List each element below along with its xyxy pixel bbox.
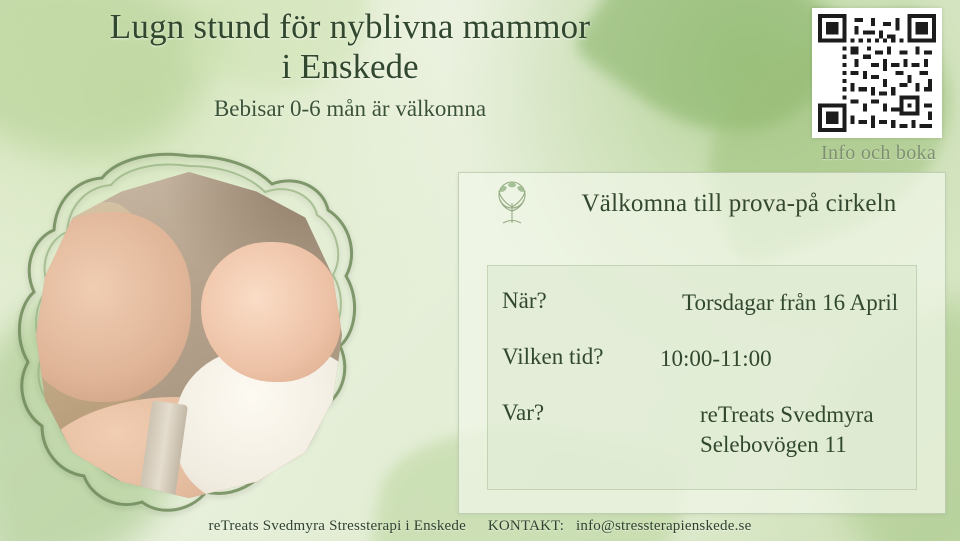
footer-contact-label: KONTAKT: — [488, 518, 564, 534]
details-panel: När? Torsdagar från 16 April Vilken tid?… — [487, 265, 917, 490]
photo-frame — [14, 150, 364, 520]
detail-label-time: Vilken tid? — [502, 344, 652, 370]
info-card-header: Välkomna till prova-på cirkeln — [459, 173, 945, 235]
detail-value-time: 10:00-11:00 — [652, 344, 772, 374]
card-title: Välkomna till prova-på cirkeln — [553, 190, 945, 218]
detail-value-when: Torsdagar från 16 April — [652, 288, 898, 318]
detail-row-when: När? Torsdagar från 16 April — [502, 288, 902, 318]
footer-contact-email[interactable]: info@stressterapienskede.se — [576, 518, 751, 534]
detail-row-time: Vilken tid? 10:00-11:00 — [502, 344, 902, 374]
headline-line-1: Lugn stund för nyblivna mammor — [0, 6, 700, 48]
detail-row-where: Var? reTreats Svedmyra Selebovögen 11 — [502, 400, 902, 460]
qr-code-icon — [818, 14, 936, 132]
detail-label-when: När? — [502, 288, 652, 314]
poster-canvas: Lugn stund för nyblivna mammor i Enskede… — [0, 0, 960, 541]
qr-code[interactable] — [812, 8, 942, 138]
retreats-tree-logo-icon — [481, 177, 543, 231]
qr-caption: Info och boka — [821, 142, 936, 165]
poster-subtitle: Bebisar 0-6 mån är välkomna — [0, 92, 700, 126]
info-card: Välkomna till prova-på cirkeln När? Tors… — [458, 172, 946, 514]
footer-business: reTreats Svedmyra Stressterapi i Enskede — [209, 518, 466, 534]
footer: reTreats Svedmyra Stressterapi i Enskede… — [0, 518, 960, 535]
detail-label-where: Var? — [502, 400, 652, 426]
poster-heading-block: Lugn stund för nyblivna mammor i Enskede… — [0, 0, 700, 126]
detail-value-where: reTreats Svedmyra Selebovögen 11 — [652, 400, 874, 460]
headline-line-2: i Enskede — [0, 46, 700, 88]
detail-value-where-line2: Selebovögen 11 — [700, 430, 874, 460]
mother-and-baby-photo — [36, 172, 342, 498]
detail-value-where-line1: reTreats Svedmyra — [700, 400, 874, 430]
